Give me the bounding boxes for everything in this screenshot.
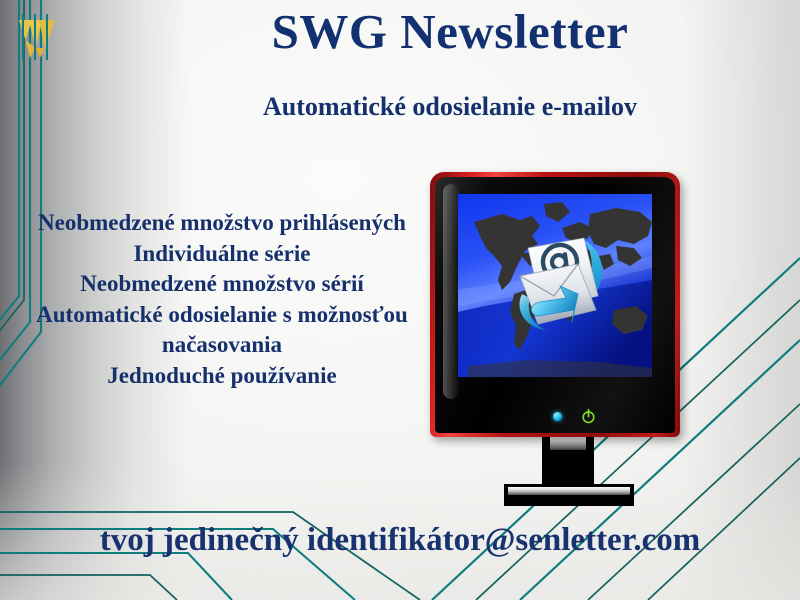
- monitor-bezel-gloss: [443, 184, 459, 399]
- power-led-indicator: [553, 412, 562, 421]
- monitor-stand-neck-highlight: [550, 436, 586, 450]
- feature-item: Individuálne série: [0, 239, 444, 270]
- feature-item: Jednoduché používanie: [0, 361, 444, 392]
- screen-artwork: [458, 194, 652, 377]
- footer-email-text: tvoj jedinečný identifikátor@senletter.c…: [0, 522, 800, 559]
- monitor-stand-base: [504, 484, 634, 506]
- power-button-icon[interactable]: [580, 408, 597, 425]
- monitor-illustration: [430, 172, 680, 437]
- feature-list: Neobmedzené množstvo prihlásených Indivi…: [0, 208, 444, 391]
- swg-logo-icon: [14, 14, 62, 60]
- newsletter-slide: SWG Newsletter Automatické odosielanie e…: [0, 0, 800, 600]
- page-subtitle: Automatické odosielanie e-mailov: [130, 93, 770, 122]
- monitor-stand-neck: [542, 434, 594, 486]
- monitor-screen: [458, 194, 652, 377]
- feature-item: Neobmedzené množstvo prihlásených: [0, 208, 444, 239]
- page-title: SWG Newsletter: [130, 6, 770, 57]
- feature-item: Neobmedzené množstvo sérií: [0, 269, 444, 300]
- monitor-stand-base-highlight: [508, 487, 630, 495]
- logo-gold-chevrons: [19, 20, 55, 58]
- feature-item: Automatické odosielanie s možnosťou nača…: [0, 300, 444, 361]
